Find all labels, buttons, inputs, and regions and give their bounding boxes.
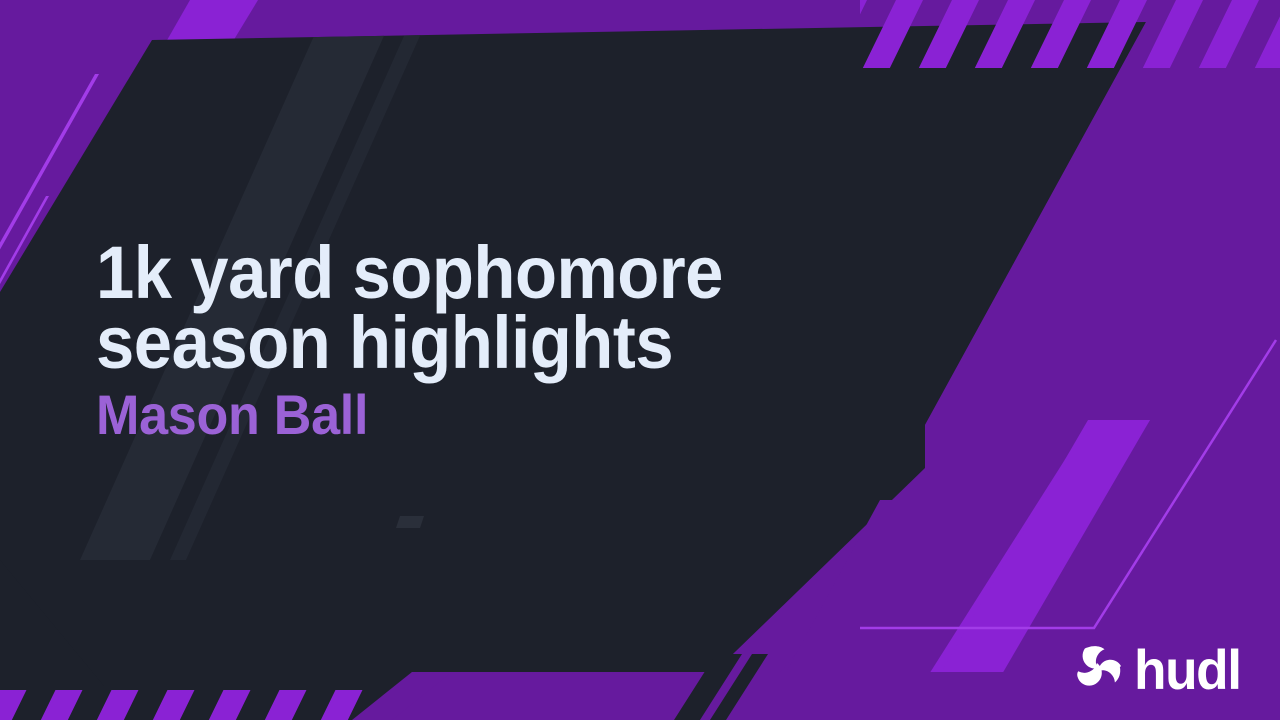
title-text-block: 1k yard sophomore season highlights Maso…	[96, 238, 856, 446]
title-line-2: season highlights	[96, 308, 803, 378]
faint-marker	[396, 516, 424, 528]
hudl-swirl-icon	[1072, 644, 1124, 696]
hudl-logo: hudl	[1072, 644, 1246, 696]
athlete-name: Mason Ball	[96, 384, 803, 446]
stripes-top-right	[860, 0, 1280, 68]
stripes-bottom-left	[0, 690, 370, 720]
title-card: 1k yard sophomore season highlights Maso…	[0, 0, 1280, 720]
title-line-1: 1k yard sophomore	[96, 238, 803, 308]
hudl-wordmark: hudl	[1134, 644, 1241, 696]
